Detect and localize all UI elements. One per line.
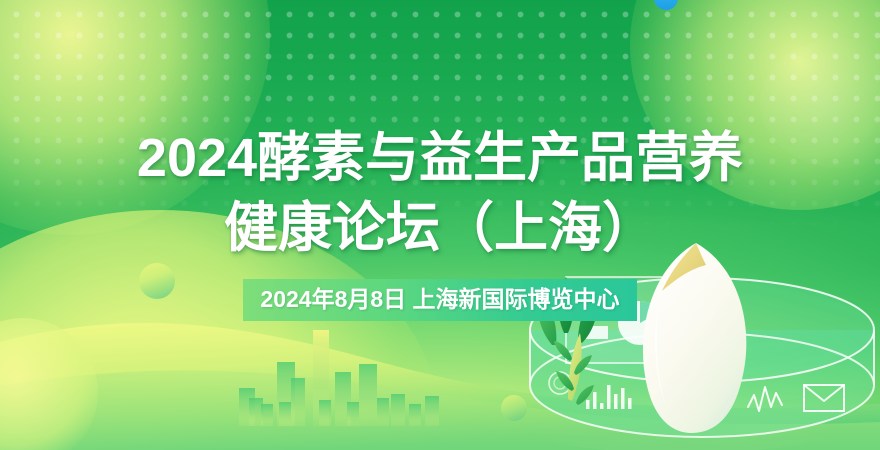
data-illustration [510,235,880,450]
bubble-a-icon [139,263,175,299]
seed-capsule-icon [643,243,746,433]
city-skyline-icon [235,316,485,426]
halftone-dot-pattern [0,0,880,240]
event-banner: 2024酵素与益生产品营养 健康论坛（上海） 2024年8月8日 上海新国际博览… [0,0,880,450]
